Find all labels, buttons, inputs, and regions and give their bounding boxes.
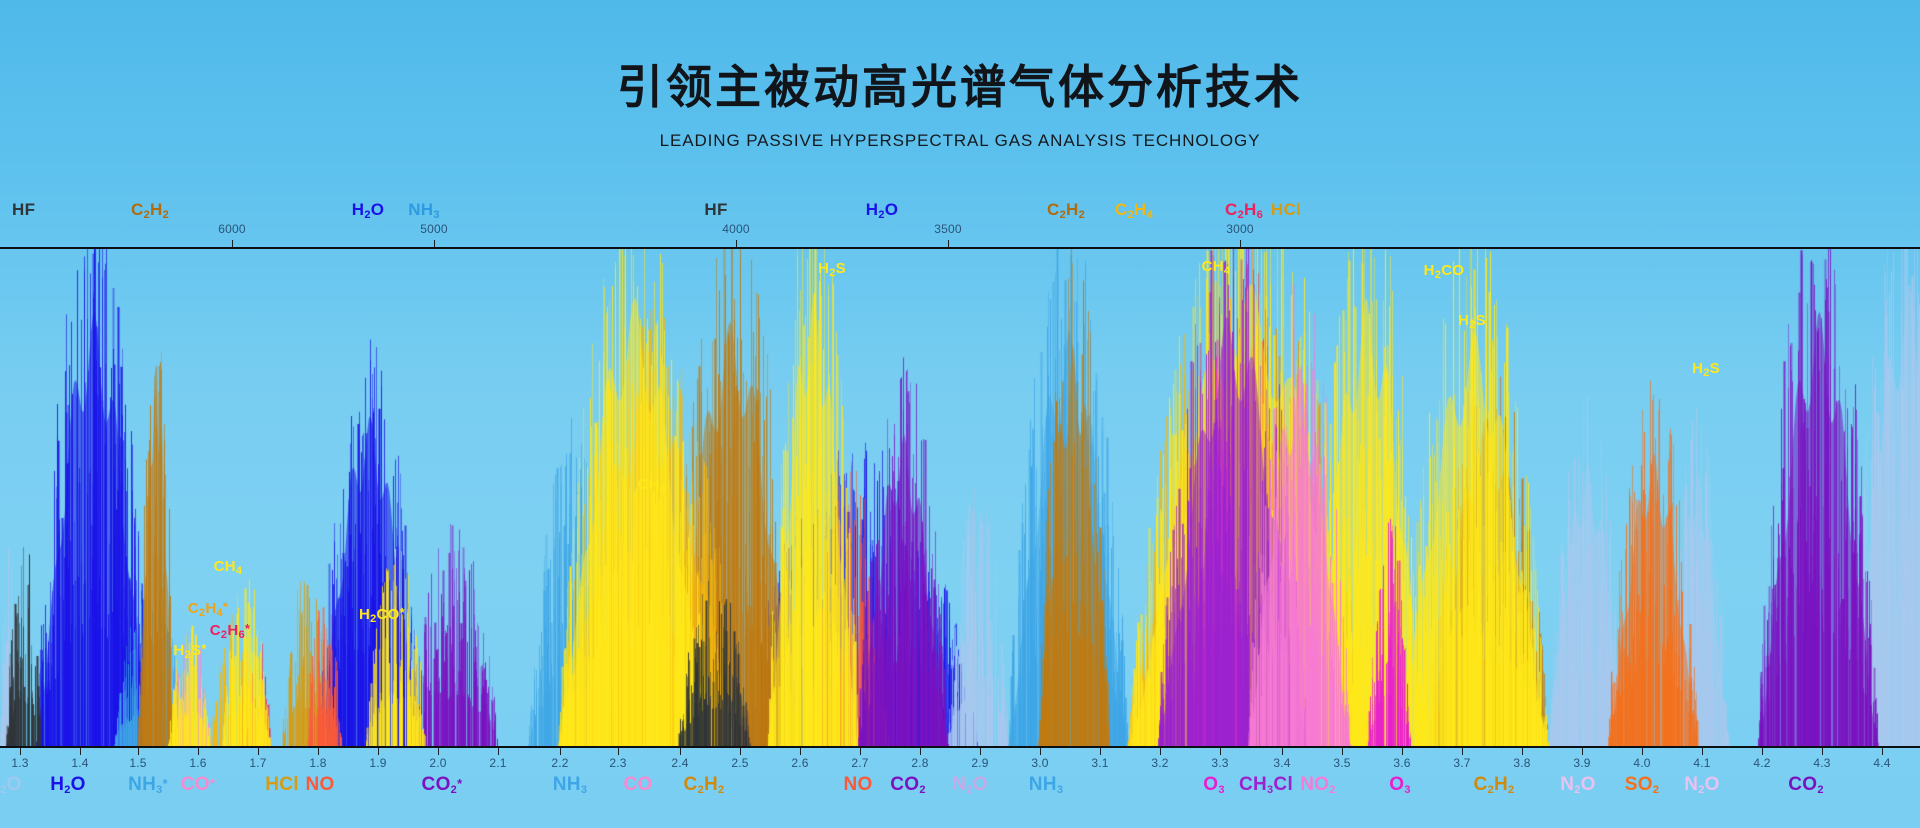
gas-label-n2o: N2O [0, 774, 22, 796]
spectra-chart [0, 248, 1920, 746]
gas-label-co2: CO2 [1788, 774, 1824, 796]
gas-label-hcl: HCl [265, 774, 299, 796]
gas-label-n2o: N2O [1560, 774, 1596, 796]
gas-label-c2h2: C2H2 [684, 774, 725, 796]
gas-label-h2o: H2O [50, 774, 86, 796]
gas-label-nh3: NH3 [1029, 774, 1063, 796]
gas-label-so2: SO2 [1625, 774, 1659, 796]
gas-label-h2o: H2O [866, 200, 899, 220]
spectra-canvas [0, 248, 1920, 746]
gas-label-nh3: NH3 [553, 774, 587, 796]
gas-label-co2: CO2* [422, 774, 463, 796]
gas-label-nh3: NH3 [408, 200, 440, 220]
gas-label-hcl: HCl [1271, 200, 1301, 220]
gas-label-co: CO* [181, 774, 215, 796]
gas-label-nh3: NH3* [128, 774, 168, 796]
gas-label-co: CO [623, 774, 652, 796]
gas-labels-bottom: N2OH2ONH3*CO*HClNOCO2*NH3COC2H2NOCO2N2ON… [0, 746, 1920, 828]
gas-labels-top: HFC2H2H2ONH3HFH2OC2H2C2H4C2H6HCl [0, 0, 1920, 248]
gas-label-h2o: H2O [352, 200, 385, 220]
gas-label-ch3cl: CH3Cl [1239, 774, 1293, 796]
gas-label-o3: O3 [1203, 774, 1225, 796]
gas-label-co2: CO2 [890, 774, 926, 796]
gas-label-hf: HF [12, 200, 35, 220]
gas-label-o3: O3 [1389, 774, 1411, 796]
gas-label-c2h2: C2H2 [1474, 774, 1515, 796]
gas-label-c2h2: C2H2 [131, 200, 169, 220]
gas-label-hf: HF [704, 200, 727, 220]
gas-label-n2o: N2O [1684, 774, 1720, 796]
gas-label-no: NO [305, 774, 334, 796]
gas-label-no2: NO2 [1300, 774, 1336, 796]
gas-label-c2h4: C2H4 [1115, 200, 1153, 220]
gas-label-c2h6: C2H6 [1225, 200, 1263, 220]
gas-label-n2o: N2O [952, 774, 988, 796]
hyperspectral-banner: 引领主被动高光谱气体分析技术 LEADING PASSIVE HYPERSPEC… [0, 0, 1920, 828]
gas-label-c2h2: C2H2 [1047, 200, 1085, 220]
gas-label-no: NO [843, 774, 872, 796]
